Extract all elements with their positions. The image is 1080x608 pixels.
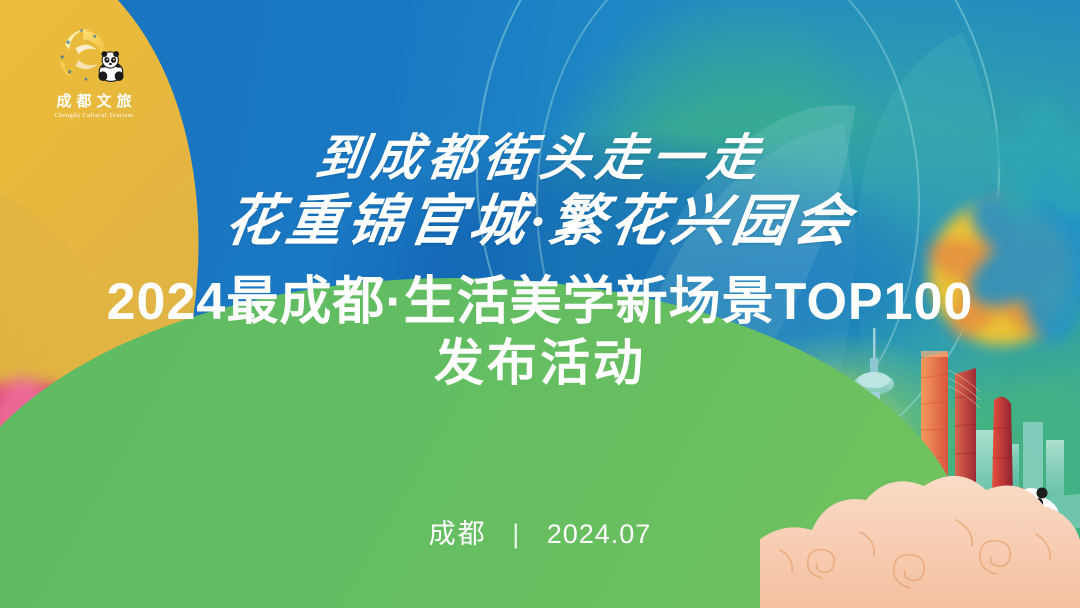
event-title-main: 2024最成都·生活美学新场景TOP100	[0, 273, 1080, 331]
headline-block: 到成都街头走一走 花重锦官城·繁花兴园会 2024最成都·生活美学新场景TOP1…	[0, 132, 1080, 393]
poster-canvas: 成都文旅 Chengdu Cultural Tourism 到成都街头走一走 花…	[0, 0, 1080, 608]
sunbird-panda-logo-icon	[53, 26, 135, 88]
calligraphy-line-2: 花重锦官城·繁花兴园会	[0, 193, 1080, 252]
footer-info: 成都 | 2024.07	[0, 512, 1080, 551]
panda-logo-figure	[98, 51, 123, 81]
event-title-sub: 发布活动	[0, 334, 1080, 393]
logo-chinese-name: 成都文旅	[36, 94, 152, 111]
logo-english-name: Chengdu Cultural Tourism	[36, 113, 152, 119]
brand-logo[interactable]: 成都文旅 Chengdu Cultural Tourism	[36, 26, 152, 119]
footer-date: 2024.07	[547, 519, 652, 549]
footer-separator: |	[512, 519, 521, 550]
calligraphy-line-1: 到成都街头走一走	[0, 132, 1080, 185]
footer-city: 成都	[429, 519, 487, 549]
